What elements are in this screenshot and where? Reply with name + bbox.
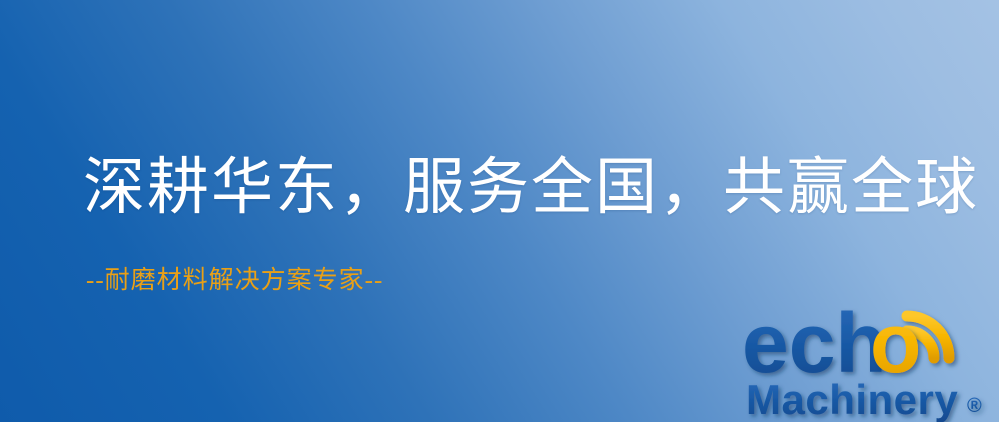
logo-text-machinery: Machinery — [746, 376, 958, 422]
page-title: 深耕华东，服务全国，共赢全球 — [83, 152, 979, 224]
hero-banner: 深耕华东，服务全国，共赢全球 --耐磨材料解决方案专家-- — [0, 0, 999, 422]
page-subtitle: --耐磨材料解决方案专家-- — [86, 266, 383, 296]
registered-trademark-icon: ® — [967, 395, 982, 417]
logo-graphic: ech o Machinery ® — [742, 296, 999, 422]
echo-machinery-logo[interactable]: ech o Machinery ® — [742, 296, 999, 422]
